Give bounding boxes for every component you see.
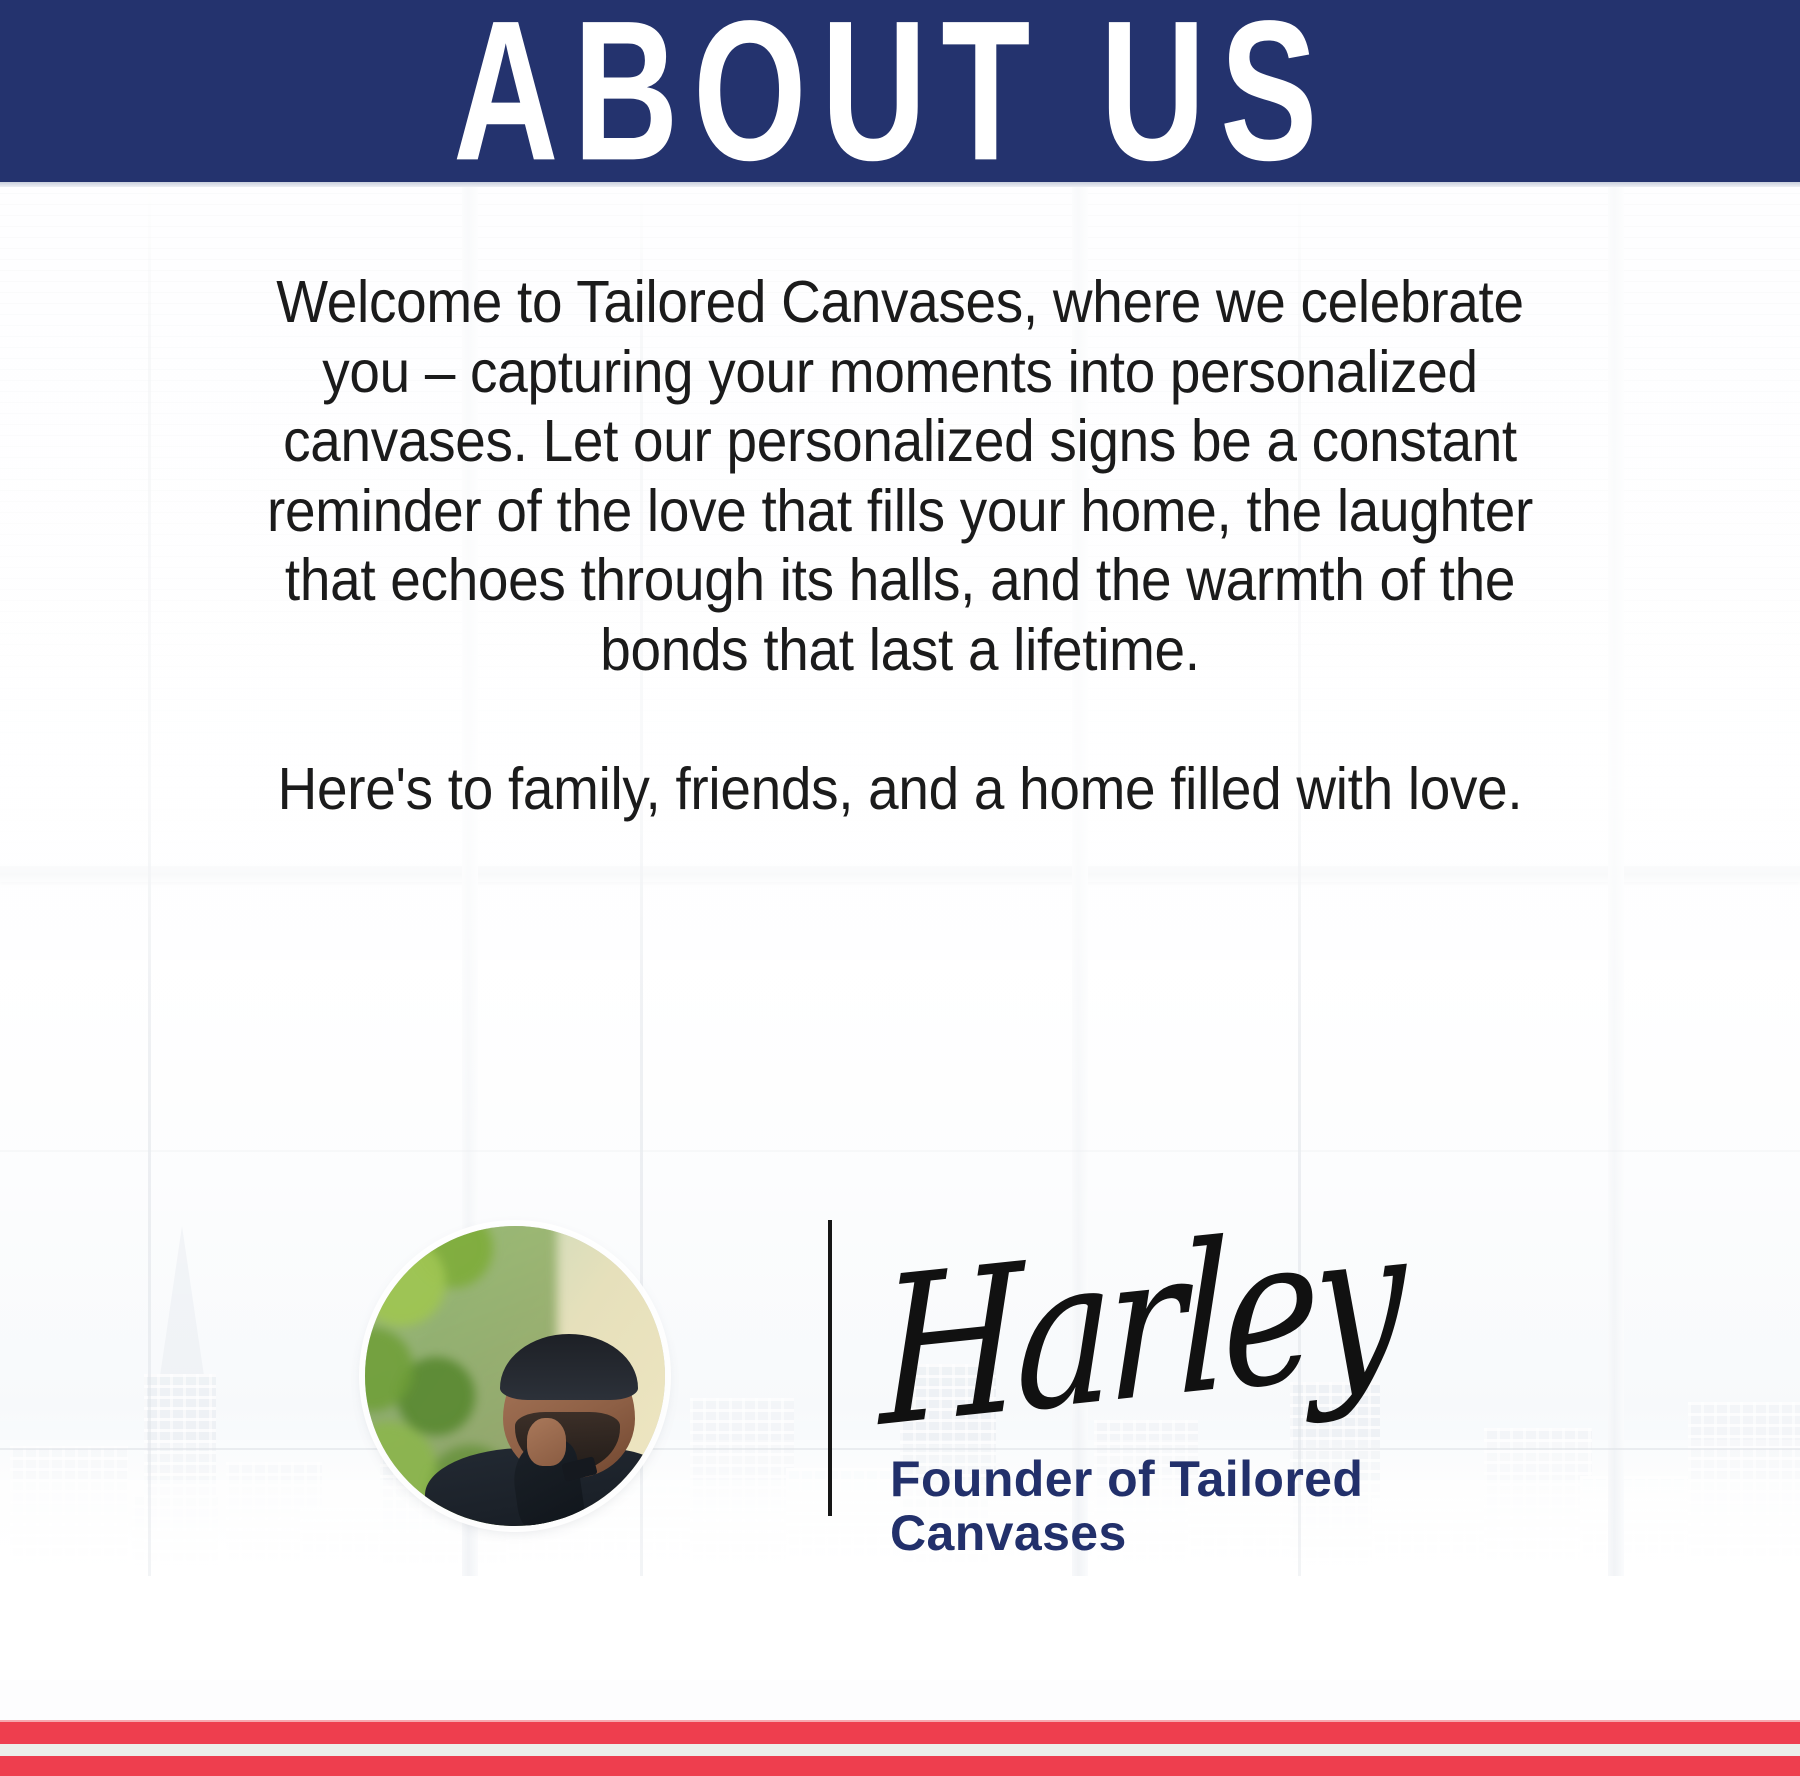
paragraph-intro: Welcome to Tailored Canvases, where we c… [240, 268, 1561, 686]
signature-name: Harley [880, 1198, 1398, 1456]
about-us-copy: Welcome to Tailored Canvases, where we c… [190, 268, 1610, 825]
signature-block: Harley Founder of Tailored Canvases [0, 1178, 1800, 1508]
footer-bar-gap [0, 1744, 1800, 1756]
avatar-photo [365, 1226, 665, 1526]
signature-divider [828, 1220, 832, 1516]
header-underline [0, 182, 1800, 187]
footer-bar-lower [0, 1756, 1800, 1776]
footer-bar-upper [0, 1722, 1800, 1744]
paragraph-toast: Here's to family, friends, and a home fi… [240, 755, 1561, 825]
header-banner: ABOUT US [0, 0, 1800, 182]
avatar [365, 1226, 665, 1526]
page-title: ABOUT US [453, 0, 1347, 191]
founder-title: Founder of Tailored Canvases [890, 1452, 1450, 1560]
